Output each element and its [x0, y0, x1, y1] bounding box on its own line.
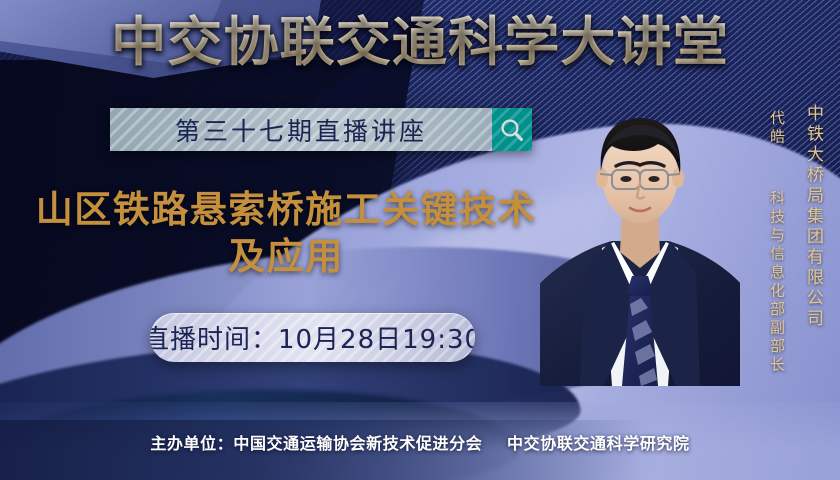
session-label: 第三十七期直播讲座	[175, 112, 427, 148]
session-bar: 第三十七期直播讲座	[110, 108, 532, 151]
page-title: 中交协联交通科学大讲堂	[0, 14, 840, 72]
broadcast-time-text: 直播时间：10月28日19:30	[150, 319, 475, 356]
lecture-headline: 山区铁路悬索桥施工关键技术及应用	[26, 186, 546, 280]
speaker-portrait-illustration	[540, 96, 740, 386]
search-icon	[499, 117, 525, 143]
session-label-block: 第三十七期直播讲座	[110, 108, 492, 151]
speaker-name-and-role: 代皓 科技与信息化部副部长	[767, 110, 788, 375]
search-button[interactable]	[492, 108, 532, 151]
organiser-line: 主办单位：中国交通运输协会新技术促进分会 中交协联交通科学研究院	[0, 430, 840, 454]
speaker-organization: 中铁大桥局集团有限公司	[801, 104, 826, 330]
poster-canvas: 中交协联交通科学大讲堂 第三十七期直播讲座 山区铁路悬索桥施工关键技术及应用 直…	[0, 0, 840, 480]
speaker-photo	[540, 96, 740, 386]
broadcast-time-pill: 直播时间：10月28日19:30	[150, 313, 475, 362]
